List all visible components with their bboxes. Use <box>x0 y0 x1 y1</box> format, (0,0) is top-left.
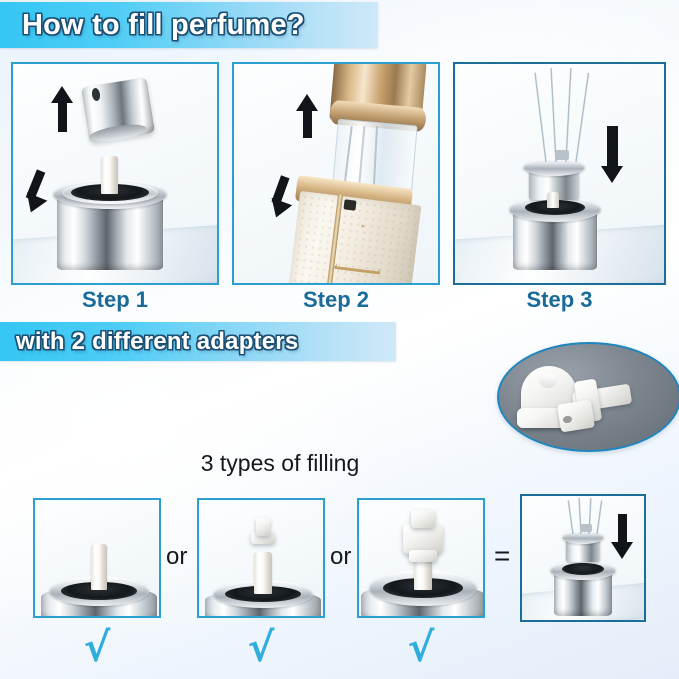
step-3-photo <box>455 64 664 283</box>
filling-option-1-check: √ <box>33 628 161 668</box>
filling-caption: 3 types of filling <box>0 450 560 477</box>
filling-option-2-check: √ <box>197 628 325 668</box>
nozzle-adapter-tip <box>557 400 595 433</box>
main-title-banner: How to fill perfume? <box>0 2 378 48</box>
adapters-banner: with 2 different adapters <box>0 322 396 361</box>
step-2-label: Step 2 <box>232 287 440 313</box>
infographic-page: How to fill perfume? <box>0 0 679 679</box>
separator-equals: = <box>494 540 510 572</box>
filling-option-3-check: √ <box>357 628 485 668</box>
filling-option-3-panel <box>357 498 485 618</box>
filling-option-2-panel <box>197 498 325 618</box>
step-1-label: Step 1 <box>11 287 219 313</box>
filling-option-3-photo <box>359 500 483 616</box>
step-3-panel <box>453 62 666 285</box>
filling-result-photo <box>522 496 644 620</box>
separator-or-1: or <box>166 543 187 571</box>
step-1-panel <box>11 62 219 285</box>
adapters-photo <box>497 342 679 452</box>
filling-option-1-panel <box>33 498 161 618</box>
step-1-photo <box>13 64 217 283</box>
step-2-panel <box>232 62 440 285</box>
adapters-title: with 2 different adapters <box>16 328 298 356</box>
page-title: How to fill perfume? <box>22 9 305 42</box>
step-2-photo <box>234 64 438 283</box>
filling-option-1-photo <box>35 500 159 616</box>
filling-option-2-photo <box>199 500 323 616</box>
separator-or-2: or <box>330 543 351 571</box>
step-3-label: Step 3 <box>453 287 666 313</box>
filling-result-panel <box>520 494 646 622</box>
